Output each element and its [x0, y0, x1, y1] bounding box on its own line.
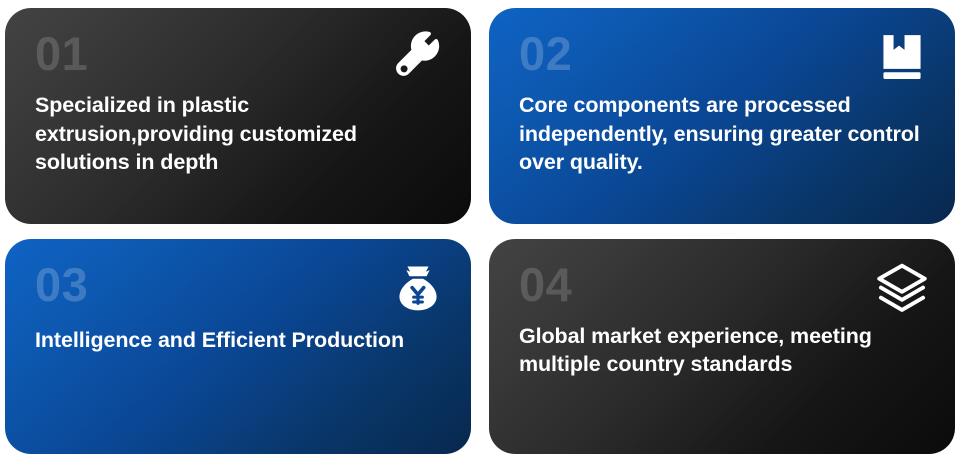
card-number: 04 [519, 261, 929, 308]
card-text: Core components are processed independen… [519, 91, 920, 177]
card-text: Specialized in plastic extrusion,providi… [35, 91, 436, 177]
card-number: 01 [35, 30, 445, 77]
feature-card-04[interactable]: 04 Global market experience, meeting mul… [489, 239, 955, 455]
feature-card-03[interactable]: 03 Intelligence and Efficient Production [5, 239, 471, 455]
card-number: 02 [519, 30, 929, 77]
feature-card-01[interactable]: 01 Specialized in plastic extrusion,prov… [5, 8, 471, 224]
feature-card-02[interactable]: 02 Core components are processed indepen… [489, 8, 955, 224]
card-number: 03 [35, 261, 445, 308]
feature-cards-grid: 01 Specialized in plastic extrusion,prov… [0, 0, 960, 459]
card-text: Global market experience, meeting multip… [519, 322, 920, 379]
card-text: Intelligence and Efficient Production [35, 326, 436, 355]
